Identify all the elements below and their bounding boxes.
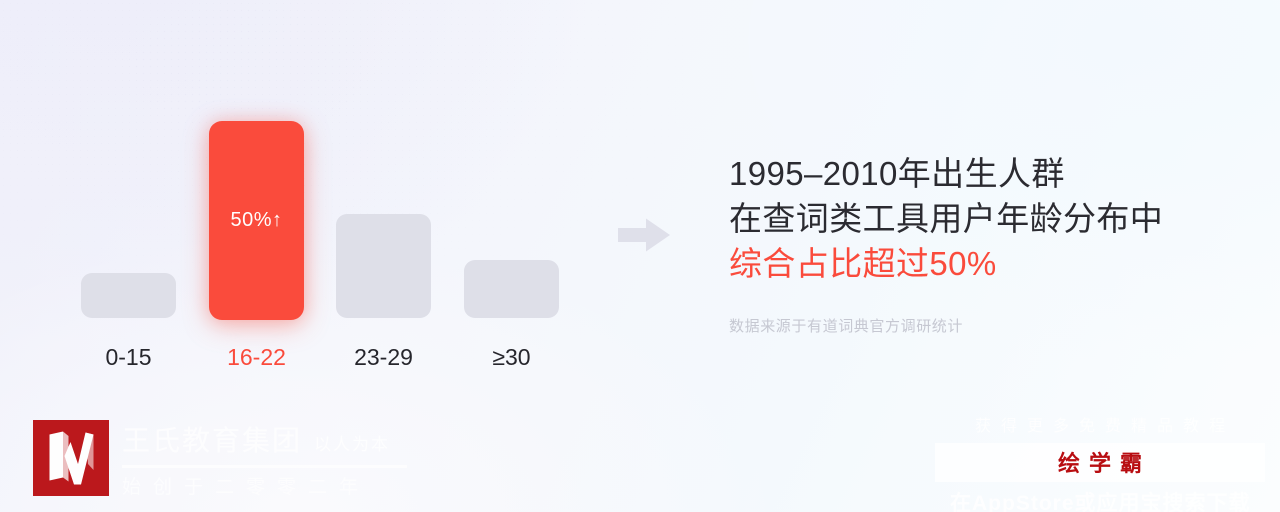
watermark-left-founded: 始创于二零零二年 — [122, 472, 407, 499]
bar-16-22[interactable]: 50%↑ — [209, 121, 304, 320]
watermark-huixueba: 获得更多免费精品教程 绘学霸 在AppStore或应用宝搜索下载 — [950, 412, 1250, 512]
callout-text-block: 1995–2010年出生人群 在查词类工具用户年龄分布中 综合占比超过50% 数… — [729, 151, 1229, 336]
wangshi-w-logo — [33, 420, 109, 496]
bar-23-29[interactable] — [336, 214, 431, 318]
axis-label-16-22: 16-22 — [209, 344, 304, 371]
bar-value-16-22: 50%↑ — [209, 209, 304, 232]
axis-label-30-plus: ≥30 — [464, 344, 559, 371]
callout-line-1: 1995–2010年出生人群 — [729, 151, 1229, 196]
watermark-left-slogan: 以人为本 — [314, 430, 390, 455]
callout-line-2: 在查词类工具用户年龄分布中 — [729, 196, 1229, 241]
watermark-left-divider — [122, 465, 407, 468]
watermark-right-tagline: 获得更多免费精品教程 — [950, 412, 1250, 436]
poster-canvas: 50%↑ 0-15 16-22 23-29 ≥30 1995–2010年出生人群… — [0, 0, 1280, 512]
bar-0-15[interactable] — [81, 273, 176, 318]
watermark-left-row-1: 王氏教育集团 以人为本 — [122, 419, 407, 459]
watermark-left-text: 王氏教育集团 以人为本 始创于二零零二年 — [122, 417, 407, 499]
data-source-note: 数据来源于有道词典官方调研统计 — [729, 315, 1229, 336]
watermark-right-brand-name: 绘学霸 — [935, 446, 1265, 478]
watermark-wangshi-education: 王氏教育集团 以人为本 始创于二零零二年 — [33, 417, 407, 499]
axis-label-0-15: 0-15 — [81, 344, 176, 371]
watermark-left-brand-name: 王氏教育集团 — [122, 419, 302, 459]
callout-line-3-highlight: 综合占比超过50% — [729, 241, 1229, 286]
arrow-right-icon — [616, 216, 672, 254]
watermark-right-brand-band: 绘学霸 — [935, 443, 1265, 482]
watermark-right-download-hint: 在AppStore或应用宝搜索下载 — [950, 487, 1250, 512]
axis-label-23-29: 23-29 — [336, 344, 431, 371]
age-distribution-bar-chart: 50%↑ 0-15 16-22 23-29 ≥30 — [0, 0, 620, 400]
bar-30-plus[interactable] — [464, 260, 559, 318]
